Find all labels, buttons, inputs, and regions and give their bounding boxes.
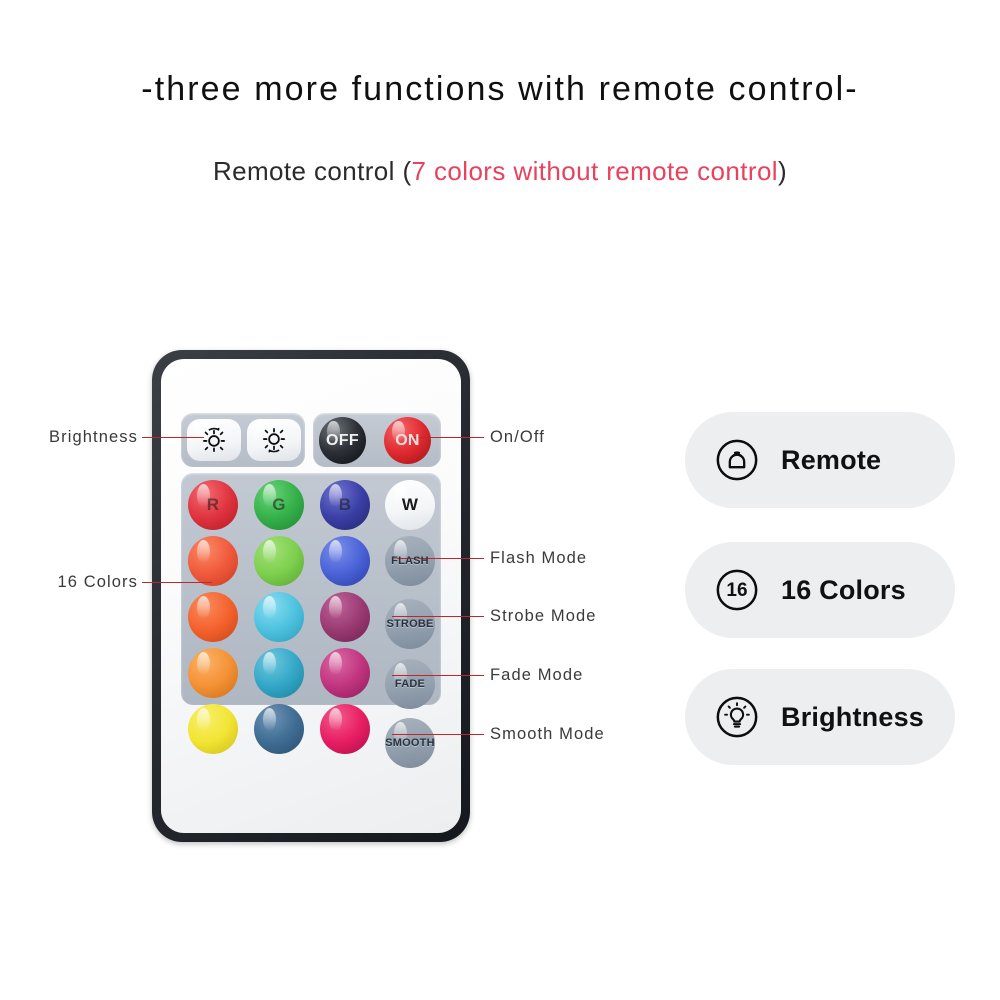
leader-line-16-colors (142, 582, 212, 583)
color-button-r4c1[interactable] (188, 648, 238, 698)
color-button-r2c1[interactable] (188, 536, 238, 586)
color-button-r3c2[interactable] (254, 592, 304, 642)
annotation-16-colors: 16 Colors (18, 573, 138, 592)
sun-up-icon (187, 419, 241, 461)
power-on-button[interactable]: ON (384, 417, 431, 464)
green-label: G (254, 480, 304, 530)
color-button-r2c2[interactable] (254, 536, 304, 586)
annotation-smooth-mode: Smooth Mode (490, 725, 605, 744)
lightbulb-icon (713, 693, 761, 741)
page-root: -three more functions with remote contro… (0, 0, 1000, 1000)
feature-badge-remote[interactable]: Remote (685, 412, 955, 508)
strobe-label: STROBE (385, 599, 435, 649)
subtitle-highlight: 7 colors without remote control (412, 156, 778, 186)
remote-signal-icon (713, 436, 761, 484)
feature-badge-colors[interactable]: 16 16 Colors (685, 542, 955, 638)
smooth-label: SMOOTH (385, 718, 435, 768)
annotation-brightness: Brightness (18, 428, 138, 447)
feature-label-remote: Remote (781, 445, 881, 476)
feature-label-colors: 16 Colors (781, 575, 906, 606)
color-button-red[interactable]: R (188, 480, 238, 530)
color-button-r4c3[interactable] (320, 648, 370, 698)
white-label: W (385, 480, 435, 530)
power-on-label: ON (384, 417, 431, 464)
color-button-green[interactable]: G (254, 480, 304, 530)
fade-mode-button[interactable]: FADE (385, 659, 435, 709)
annotation-on-off: On/Off (490, 428, 545, 447)
color-button-r3c3[interactable] (320, 592, 370, 642)
remote-control-device: OFF ON R G B W (152, 350, 470, 842)
feature-badge-brightness[interactable]: Brightness (685, 669, 955, 765)
annotation-fade-mode: Fade Mode (490, 666, 583, 685)
color-button-r4c2[interactable] (254, 648, 304, 698)
annotation-flash-mode: Flash Mode (490, 549, 587, 568)
color-button-r5c3[interactable] (320, 704, 370, 754)
brightness-down-button[interactable] (247, 419, 301, 461)
sun-down-icon (247, 419, 301, 461)
flash-mode-button[interactable]: FLASH (385, 536, 435, 586)
annotation-strobe-mode: Strobe Mode (490, 607, 597, 626)
flash-label: FLASH (385, 536, 435, 586)
brightness-up-button[interactable] (187, 419, 241, 461)
color-button-r3c1[interactable] (188, 592, 238, 642)
page-subtitle: Remote control (7 colors without remote … (0, 156, 1000, 187)
remote-faceplate: OFF ON R G B W (161, 359, 461, 833)
color-button-r5c2[interactable] (254, 704, 304, 754)
color-button-white[interactable]: W (385, 480, 435, 530)
subtitle-suffix: ) (778, 156, 787, 186)
color-button-r2c3[interactable] (320, 536, 370, 586)
badge-number-16: 16 (726, 581, 747, 600)
smooth-mode-button[interactable]: SMOOTH (385, 718, 435, 768)
power-off-button[interactable]: OFF (319, 417, 366, 464)
feature-label-brightness: Brightness (781, 702, 924, 733)
color-button-blue[interactable]: B (320, 480, 370, 530)
strobe-mode-button[interactable]: STROBE (385, 599, 435, 649)
red-label: R (188, 480, 238, 530)
sixteen-circle-icon: 16 (713, 566, 761, 614)
subtitle-prefix: Remote control ( (213, 156, 412, 186)
color-button-r5c1[interactable] (188, 704, 238, 754)
fade-label: FADE (385, 659, 435, 709)
power-off-label: OFF (319, 417, 366, 464)
page-title: -three more functions with remote contro… (0, 70, 1000, 109)
blue-label: B (320, 480, 370, 530)
